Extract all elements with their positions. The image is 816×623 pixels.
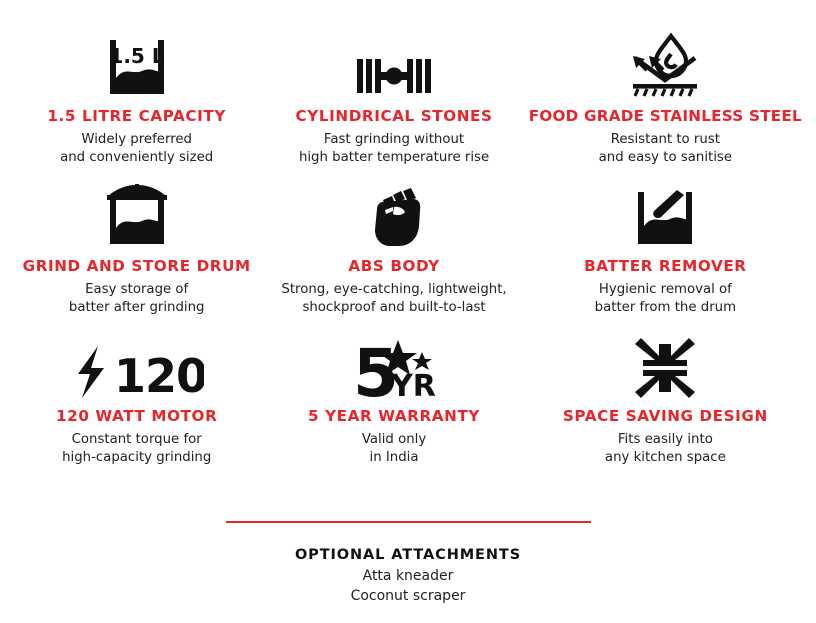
feature-cell-capacity: 1.5 L 1.5 LITRE CAPACITY Widely preferre… (8, 28, 265, 178)
lightning-bolt-120w-icon: 120W (70, 328, 204, 400)
section-divider (0, 521, 816, 523)
feature-title: 5 YEAR WARRANTY (308, 408, 480, 425)
feature-title: BATTER REMOVER (584, 258, 746, 275)
five-year-star-icon: 5 YR (351, 328, 437, 400)
feature-desc-line: Fits easily into (605, 431, 726, 449)
optional-attachments-title: OPTIONAL ATTACHMENTS (0, 547, 816, 563)
feature-description: Fits easily into any kitchen space (605, 431, 726, 466)
feature-description: Constant torque for high-capacity grindi… (62, 431, 211, 466)
space-saving-arrows-icon (631, 328, 699, 400)
feature-desc-line: Easy storage of (69, 281, 205, 299)
fist-abs-body-icon (363, 178, 425, 250)
grind-and-store-drum-icon (101, 178, 173, 250)
feature-description: Fast grinding without high batter temper… (299, 131, 489, 166)
product-feature-sheet: 1.5 L 1.5 LITRE CAPACITY Widely preferre… (0, 0, 816, 623)
batter-remover-spatula-icon (629, 178, 701, 250)
feature-title: SPACE SAVING DESIGN (563, 408, 768, 425)
feature-grid: 1.5 L 1.5 LITRE CAPACITY Widely preferre… (0, 0, 816, 478)
feature-title: ABS BODY (348, 258, 439, 275)
stainless-steel-water-repellent-icon (627, 28, 703, 100)
feature-description: Widely preferred and conveniently sized (60, 131, 213, 166)
feature-desc-line: batter after grinding (69, 299, 205, 317)
feature-title: GRIND AND STORE DRUM (23, 258, 251, 275)
feature-desc-line: batter from the drum (595, 299, 736, 317)
feature-desc-line: and easy to sanitise (599, 149, 732, 167)
feature-description: Valid only in India (362, 431, 426, 466)
feature-cell-warranty: 5 YR 5 YEAR WARRANTY Valid only in India (265, 328, 522, 478)
feature-description: Easy storage of batter after grinding (69, 281, 205, 316)
optional-attachments-section: OPTIONAL ATTACHMENTS Atta kneader Coconu… (0, 547, 816, 607)
optional-attachment-item: Coconut scraper (0, 587, 816, 607)
feature-cell-drum: GRIND AND STORE DRUM Easy storage of bat… (8, 178, 265, 328)
feature-cell-stones: CYLINDRICAL STONES Fast grinding without… (265, 28, 522, 178)
cylindrical-stones-icon (355, 28, 433, 100)
feature-cell-motor: 120W 120 WATT MOTOR Constant torque for … (8, 328, 265, 478)
feature-desc-line: Resistant to rust (599, 131, 732, 149)
feature-cell-space-saving: SPACE SAVING DESIGN Fits easily into any… (523, 328, 808, 478)
feature-title: CYLINDRICAL STONES (296, 108, 493, 125)
feature-title: FOOD GRADE STAINLESS STEEL (529, 108, 802, 125)
bucket-1-5-litre-icon: 1.5 L (101, 28, 173, 100)
svg-text:120W: 120W (114, 349, 204, 400)
optional-attachment-item: Atta kneader (0, 567, 816, 587)
divider-line (226, 521, 591, 523)
feature-desc-line: shockproof and built-to-last (281, 299, 506, 317)
feature-description: Hygienic removal of batter from the drum (595, 281, 736, 316)
feature-cell-stainless-steel: FOOD GRADE STAINLESS STEEL Resistant to … (523, 28, 808, 178)
feature-desc-line: high batter temperature rise (299, 149, 489, 167)
feature-desc-line: Widely preferred (60, 131, 213, 149)
feature-desc-line: Strong, eye-catching, lightweight, (281, 281, 506, 299)
feature-desc-line: any kitchen space (605, 449, 726, 467)
svg-text:1.5 L: 1.5 L (109, 44, 164, 68)
feature-desc-line: Fast grinding without (299, 131, 489, 149)
feature-desc-line: and conveniently sized (60, 149, 213, 167)
feature-desc-line: Valid only (362, 431, 426, 449)
feature-description: Strong, eye-catching, lightweight, shock… (281, 281, 506, 316)
feature-title: 120 WATT MOTOR (56, 408, 217, 425)
feature-desc-line: Hygienic removal of (595, 281, 736, 299)
svg-text:YR: YR (390, 369, 436, 400)
feature-title: 1.5 LITRE CAPACITY (47, 108, 226, 125)
feature-description: Resistant to rust and easy to sanitise (599, 131, 732, 166)
feature-desc-line: high-capacity grinding (62, 449, 211, 467)
feature-cell-abs-body: ABS BODY Strong, eye-catching, lightweig… (265, 178, 522, 328)
feature-desc-line: Constant torque for (62, 431, 211, 449)
feature-cell-batter-remover: BATTER REMOVER Hygienic removal of batte… (523, 178, 808, 328)
feature-desc-line: in India (362, 449, 426, 467)
